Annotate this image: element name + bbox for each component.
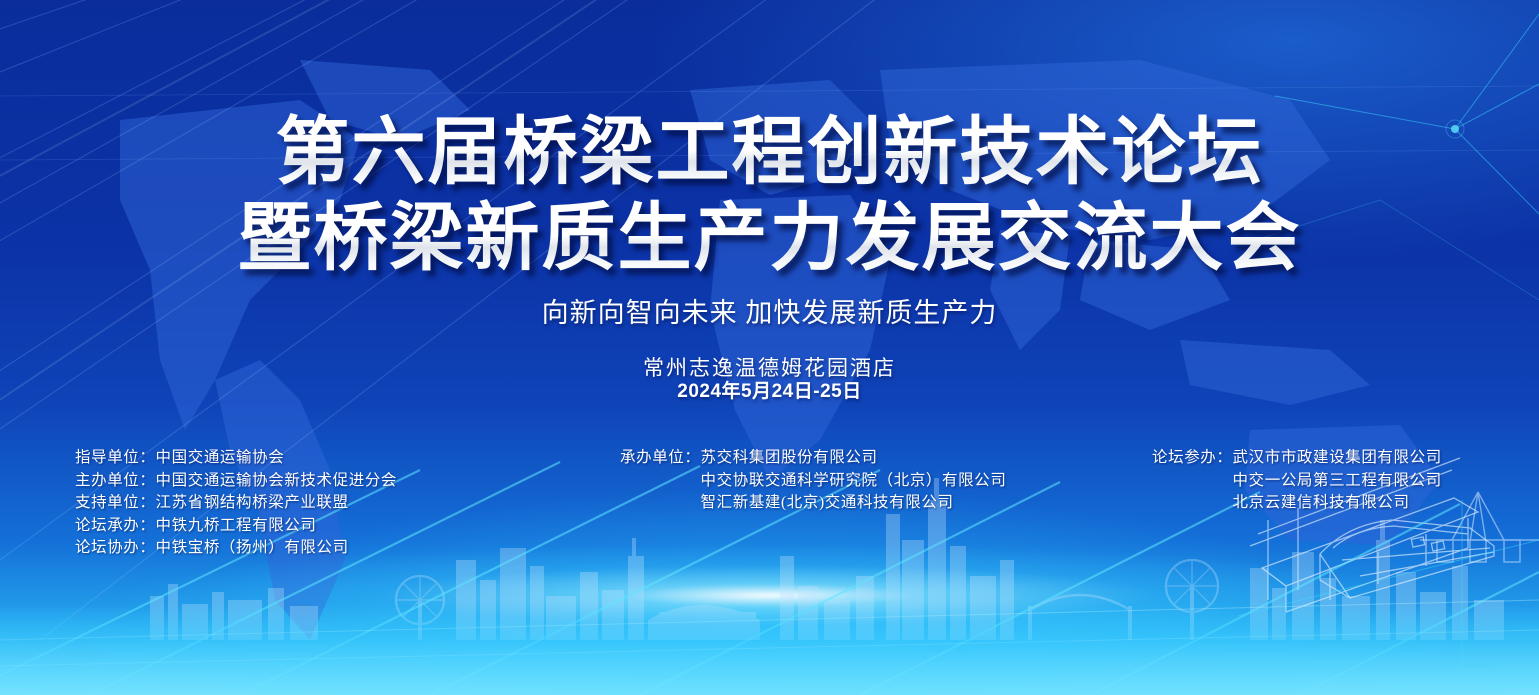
- sponsor-value: 中国交通运输协会新技术促进分会: [156, 470, 398, 493]
- sponsor-row: 承办单位：苏交科集团股份有限公司: [620, 447, 1006, 470]
- sponsor-value: 中铁宝桥（扬州）有限公司: [156, 537, 349, 560]
- sponsor-value: 北京云建信科技有限公司: [1233, 492, 1410, 515]
- sponsor-label: 论坛协办：: [75, 537, 156, 560]
- sponsor-column-middle: 承办单位：苏交科集团股份有限公司承办单位：中交协联交通科学研究院（北京）有限公司…: [620, 447, 1006, 515]
- sponsor-row: 论坛参办：武汉市市政建设集团有限公司: [1152, 447, 1442, 470]
- sponsor-column-right: 论坛参办：武汉市市政建设集团有限公司论坛参办：中交一公局第三工程有限公司论坛参办…: [1152, 447, 1442, 515]
- sponsor-label: 承办单位：: [620, 447, 701, 470]
- title-line-2: 暨桥梁新质生产力发展交流大会: [0, 196, 1539, 282]
- sponsor-row: 论坛承办：中铁九桥工程有限公司: [75, 515, 397, 538]
- sponsor-value: 中国交通运输协会: [156, 447, 285, 470]
- sponsor-row: 支持单位：江苏省钢结构桥梁产业联盟: [75, 492, 397, 515]
- sponsor-row: 论坛参办：中交一公局第三工程有限公司: [1152, 470, 1442, 493]
- sponsor-label: 支持单位：: [75, 492, 156, 515]
- sponsor-value: 中交协联交通科学研究院（北京）有限公司: [701, 470, 1007, 493]
- sponsor-row: 论坛参办：北京云建信科技有限公司: [1152, 492, 1442, 515]
- venue-name: 常州志逸温德姆花园酒店: [0, 355, 1539, 381]
- sponsor-row: 承办单位：中交协联交通科学研究院（北京）有限公司: [620, 470, 1006, 493]
- sponsor-label: 指导单位：: [75, 447, 156, 470]
- sponsor-column-left: 指导单位：中国交通运输协会主办单位：中国交通运输协会新技术促进分会支持单位：江苏…: [75, 447, 397, 560]
- sponsor-row: 主办单位：中国交通运输协会新技术促进分会: [75, 470, 397, 493]
- title-line-1: 第六届桥梁工程创新技术论坛: [0, 110, 1539, 196]
- sponsor-value: 苏交科集团股份有限公司: [701, 447, 878, 470]
- conference-banner: 第六届桥梁工程创新技术论坛 暨桥梁新质生产力发展交流大会 向新向智向未来 加快发…: [0, 0, 1539, 695]
- sponsor-value: 智汇新基建(北京)交通科技有限公司: [701, 492, 954, 515]
- sponsor-label: 论坛承办：: [75, 515, 156, 538]
- sponsor-value: 江苏省钢结构桥梁产业联盟: [156, 492, 349, 515]
- sponsor-value: 中铁九桥工程有限公司: [156, 515, 317, 538]
- sponsor-row: 指导单位：中国交通运输协会: [75, 447, 397, 470]
- banner-subtitle: 向新向智向未来 加快发展新质生产力: [0, 296, 1539, 330]
- banner-title: 第六届桥梁工程创新技术论坛 暨桥梁新质生产力发展交流大会: [0, 110, 1539, 282]
- sponsor-value: 中交一公局第三工程有限公司: [1233, 470, 1442, 493]
- sponsor-label: 论坛参办：: [1152, 447, 1233, 470]
- event-dates: 2024年5月24日-25日: [0, 379, 1539, 404]
- sponsor-row: 论坛协办：中铁宝桥（扬州）有限公司: [75, 537, 397, 560]
- sponsor-value: 武汉市市政建设集团有限公司: [1233, 447, 1442, 470]
- sponsor-row: 承办单位：智汇新基建(北京)交通科技有限公司: [620, 492, 1006, 515]
- sponsor-label: 主办单位：: [75, 470, 156, 493]
